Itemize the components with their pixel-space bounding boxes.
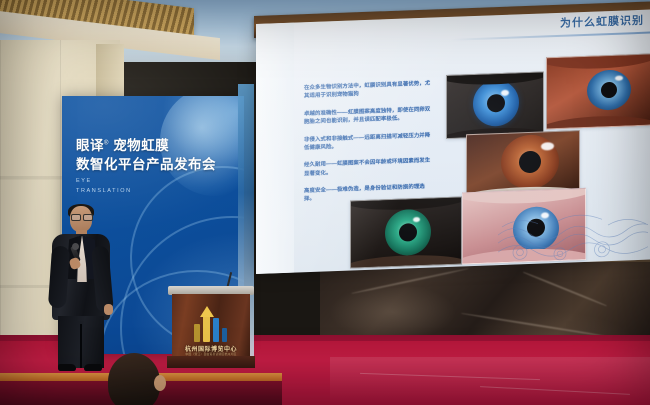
slide-image-eye-green-human — [350, 196, 462, 268]
banner-en-line1: EYE — [76, 178, 92, 184]
audience-member-ear — [154, 375, 166, 391]
marble-vein-2 — [461, 312, 609, 337]
slide-image-eye-blue-human — [446, 71, 544, 139]
presenter — [46, 206, 118, 371]
banner-title-line1b: 宠物虹膜 — [113, 138, 169, 153]
microphone-head-icon — [72, 243, 79, 250]
podium-body: 杭州国际博览中心 中国（浙江）自由贸易试验区杭州片区 HANGZHOU INTE… — [172, 294, 250, 358]
slide-paragraph-1: 在众多生物识别方法中，虹膜识别具有显著优势，尤其适用于识别宠物猫狗 — [304, 80, 432, 101]
logo-bar-2 — [203, 314, 210, 342]
marble-vein-1 — [351, 268, 469, 295]
marble-vein-4 — [523, 271, 607, 306]
banner-title-line1: 眼译® 宠物虹膜 — [76, 134, 236, 154]
eyelid-top — [446, 71, 544, 86]
podium: 杭州国际博览中心 中国（浙江）自由贸易试验区杭州片区 HANGZHOU INTE… — [172, 286, 250, 370]
registered-mark-icon: ® — [104, 141, 109, 147]
logo-arrow-icon — [200, 306, 214, 317]
slide-title: 为什么虹膜识别 — [560, 12, 644, 31]
audience-member-head — [108, 353, 160, 405]
banner-title-line2: 数智化平台产品发布会 — [76, 153, 244, 173]
presenter-hand-right — [104, 304, 113, 315]
banner-brand: 眼译 — [76, 138, 104, 153]
presenter-shoe-left — [58, 364, 76, 371]
logo-bar-3 — [213, 318, 219, 342]
projection-screen: 为什么虹膜识别 在众多生物识别方法中，虹膜识别具有显著优势，尤其适用于识别宠物猫… — [256, 10, 650, 274]
logo-bar-4 — [222, 328, 227, 342]
logo-bar-1 — [194, 324, 200, 342]
podium-base — [167, 356, 255, 368]
venue-logo-icon — [190, 308, 232, 342]
screen-left-margin — [256, 23, 294, 274]
slide-header-rule — [450, 32, 650, 41]
slide-paragraph-3: 非侵入式和非接触式——远距离扫描可减轻压力并降低健康风险。 — [304, 131, 432, 152]
presenter-shoe-right — [84, 364, 102, 371]
photo-scene: 眼译® 宠物虹膜 数智化平台产品发布会 EYE TRANSLATION 为什么虹… — [0, 0, 650, 405]
eyelid-top — [546, 53, 650, 70]
slide-paragraph-2: 卓越的准确性——虹膜图案高度独特，即使在同卵双胞胎之间也能识别，并且误匹配率极低… — [304, 105, 432, 126]
eyelid-bottom — [350, 253, 462, 268]
eyelid-bottom — [546, 114, 650, 129]
floor-light-sheen — [330, 357, 650, 405]
slide-image-eye-red-dog — [546, 53, 650, 129]
glasses-lens-right-icon — [83, 214, 93, 221]
slide-wave-decoration — [498, 202, 648, 266]
banner-en-line2: TRANSLATION — [76, 188, 132, 194]
slide-paragraph-4: 经久耐用——虹膜图案不会因年龄或环境因素而发生显著变化。 — [304, 157, 432, 178]
glasses-lens-left-icon — [71, 214, 81, 221]
trouser-seam — [80, 324, 82, 368]
slide-text-column: 在众多生物识别方法中，虹膜识别具有显著优势，尤其适用于识别宠物猫狗 卓越的准确性… — [304, 80, 432, 213]
